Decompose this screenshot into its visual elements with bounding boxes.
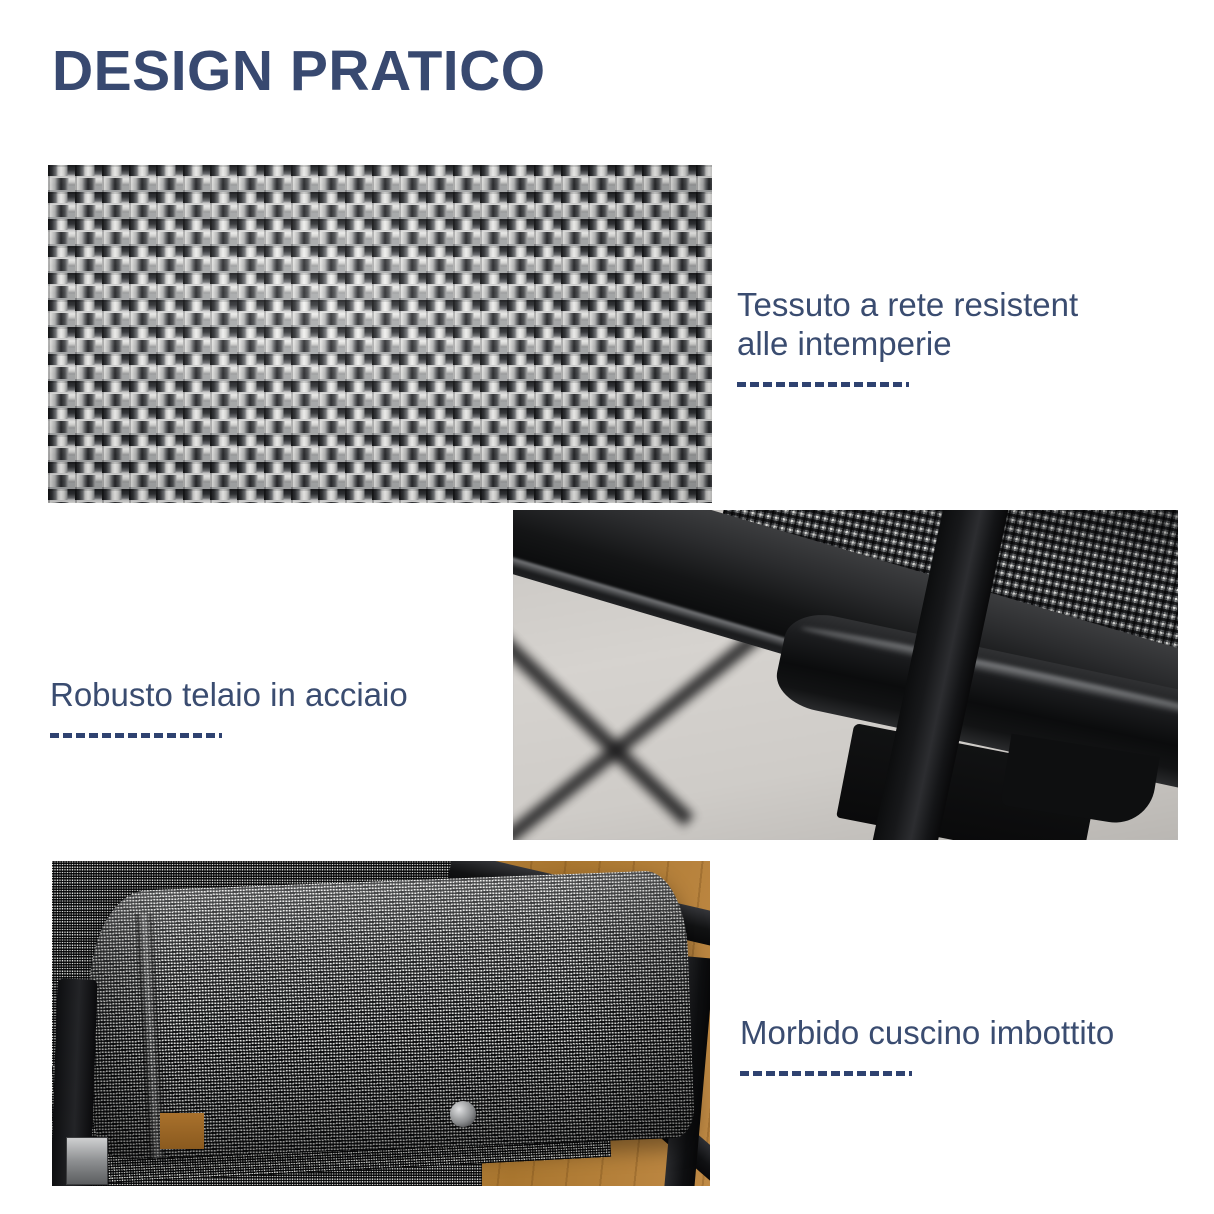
photo-vignette	[48, 165, 712, 503]
page-title: DESIGN PRATICO	[52, 40, 546, 103]
infographic-page: { "page": { "title": "DESIGN PRATICO", "…	[0, 0, 1214, 1214]
callout-dash-underline	[740, 1071, 912, 1076]
callout-steel-frame: Robusto telaio in acciaio	[50, 676, 510, 738]
callout-mesh-fabric-text: Tessuto a rete resistent alle intemperie	[737, 286, 1177, 364]
cushion-strap	[160, 1113, 204, 1149]
callout-steel-frame-text: Robusto telaio in acciaio	[50, 676, 510, 715]
photo-cushion	[52, 861, 710, 1186]
callout-cushion-text: Morbido cuscino imbottito	[740, 1014, 1190, 1053]
photo-mesh-fabric	[48, 165, 712, 503]
callout-dash-underline	[737, 382, 909, 387]
callout-cushion: Morbido cuscino imbottito	[740, 1014, 1190, 1076]
callout-mesh-fabric: Tessuto a rete resistent alle intemperie	[737, 286, 1177, 387]
callout-dash-underline	[50, 733, 222, 738]
frame-left-bracket	[66, 1137, 108, 1185]
frame-pivot-bolt	[450, 1101, 476, 1127]
photo-steel-frame	[513, 510, 1178, 840]
